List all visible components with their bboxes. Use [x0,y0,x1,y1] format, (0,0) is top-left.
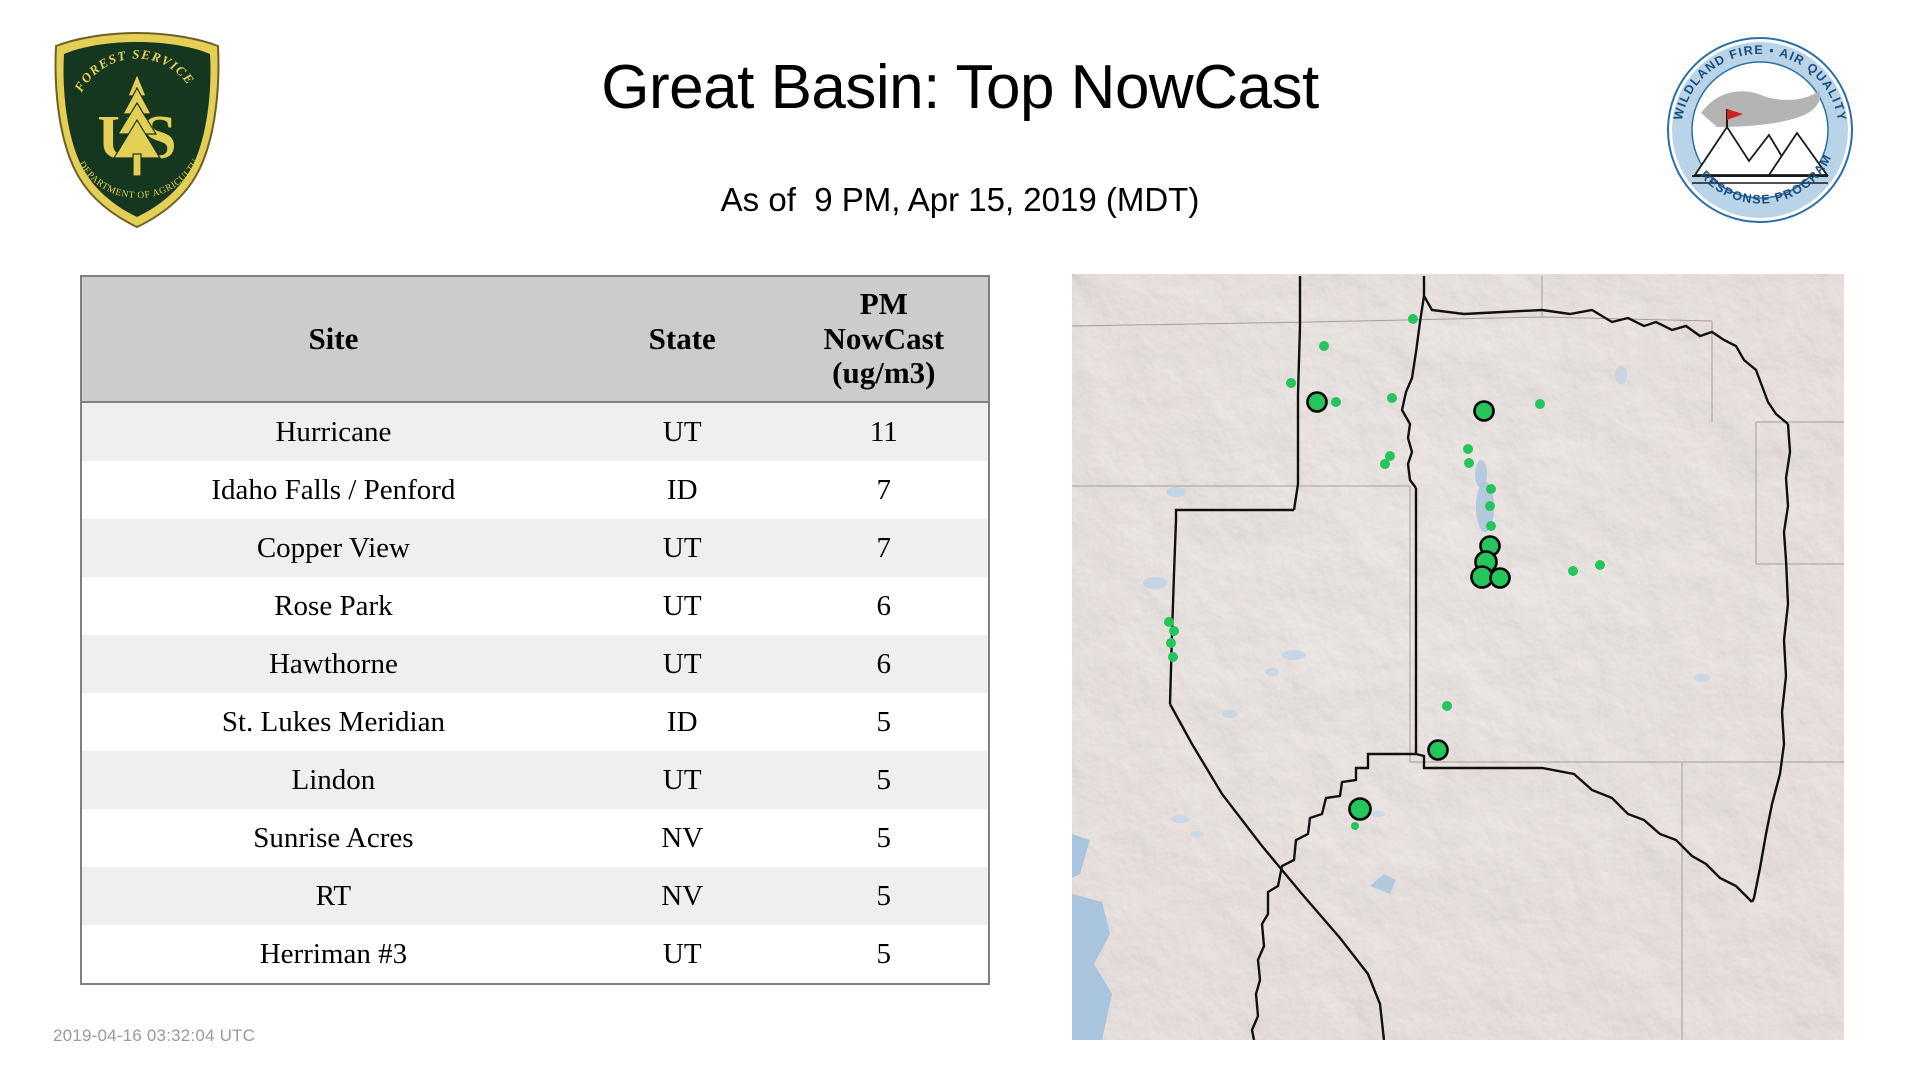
map-marker[interactable] [1535,399,1545,409]
table-row[interactable]: HurricaneUT11 [82,402,988,461]
value-header-line-3: (ug/m3) [784,356,984,391]
value-cell: 7 [780,461,988,519]
state-cell: ID [585,461,780,519]
map-marker[interactable] [1164,617,1174,627]
state-cell: UT [585,402,780,461]
map-marker[interactable] [1408,314,1418,324]
value-cell: 7 [780,519,988,577]
page-subtitle: As of 9 PM, Apr 15, 2019 (MDT) [0,181,1920,219]
map-marker[interactable] [1168,652,1178,662]
state-cell: UT [585,519,780,577]
map-marker[interactable] [1169,626,1179,636]
table-row[interactable]: Rose ParkUT6 [82,577,988,635]
site-cell: St. Lukes Meridian [82,693,585,751]
value-header-line-2: NowCast [784,322,984,357]
map-marker[interactable] [1319,341,1329,351]
map-marker[interactable] [1331,397,1341,407]
value-cell: 5 [780,693,988,751]
page-title: Great Basin: Top NowCast [0,52,1920,123]
map-marker-highlighted[interactable] [1475,402,1494,421]
table-row[interactable]: LindonUT5 [82,751,988,809]
map-hillshade [1072,274,1844,1040]
table-row[interactable]: Sunrise AcresNV5 [82,809,988,867]
table-row[interactable]: St. Lukes MeridianID5 [82,693,988,751]
state-cell: UT [585,635,780,693]
site-cell: Copper View [82,519,585,577]
site-cell: Sunrise Acres [82,809,585,867]
map-layers [1072,274,1844,1040]
map-marker[interactable] [1387,393,1397,403]
map-marker-highlighted[interactable] [1491,569,1510,588]
table-row[interactable]: Herriman #3UT5 [82,925,988,983]
state-cell: UT [585,577,780,635]
map-marker[interactable] [1485,501,1495,511]
map-marker[interactable] [1486,484,1496,494]
table-row[interactable]: RTNV5 [82,867,988,925]
column-header-value[interactable]: PM NowCast (ug/m3) [780,277,988,402]
map-marker-highlighted[interactable] [1308,393,1327,412]
map-marker[interactable] [1166,638,1176,648]
table-header-row: Site State PM NowCast (ug/m3) [82,277,988,402]
table-row[interactable]: HawthorneUT6 [82,635,988,693]
map-marker[interactable] [1380,459,1390,469]
map-marker[interactable] [1442,701,1452,711]
map-marker[interactable] [1595,560,1605,570]
value-cell: 5 [780,867,988,925]
site-cell: Hurricane [82,402,585,461]
site-cell: Idaho Falls / Penford [82,461,585,519]
column-header-state[interactable]: State [585,277,780,402]
map-marker-highlighted[interactable] [1350,799,1371,820]
map-marker[interactable] [1463,444,1473,454]
map-marker[interactable] [1351,822,1359,830]
site-cell: Herriman #3 [82,925,585,983]
table-body: HurricaneUT11Idaho Falls / PenfordID7Cop… [82,402,988,983]
value-cell: 11 [780,402,988,461]
site-cell: Hawthorne [82,635,585,693]
value-cell: 6 [780,635,988,693]
state-cell: NV [585,809,780,867]
value-cell: 6 [780,577,988,635]
footer-timestamp: 2019-04-16 03:32:04 UTC [53,1026,255,1046]
map-marker[interactable] [1568,566,1578,576]
value-cell: 5 [780,925,988,983]
site-cell: Rose Park [82,577,585,635]
table-row[interactable]: Idaho Falls / PenfordID7 [82,461,988,519]
map-marker[interactable] [1486,521,1496,531]
site-cell: RT [82,867,585,925]
map-marker[interactable] [1464,458,1474,468]
state-cell: UT [585,751,780,809]
value-cell: 5 [780,809,988,867]
value-cell: 5 [780,751,988,809]
wfaqrp-badge-logo: WILDLAND FIRE • AIR QUALITY RESPONSE PRO… [1665,35,1855,225]
column-header-site[interactable]: Site [82,277,585,402]
state-cell: UT [585,925,780,983]
state-cell: ID [585,693,780,751]
usfs-shield-logo: FOREST SERVICE DEPARTMENT OF AGRICULTURE… [50,30,225,230]
nowcast-table-container: Site State PM NowCast (ug/m3) HurricaneU… [80,275,990,985]
state-cell: NV [585,867,780,925]
table-row[interactable]: Copper ViewUT7 [82,519,988,577]
nowcast-table: Site State PM NowCast (ug/m3) HurricaneU… [82,277,988,983]
site-cell: Lindon [82,751,585,809]
map-marker[interactable] [1286,378,1296,388]
great-basin-monitor-map[interactable] [1072,274,1844,1040]
map-marker-highlighted[interactable] [1429,741,1448,760]
value-header-line-1: PM [784,287,984,322]
